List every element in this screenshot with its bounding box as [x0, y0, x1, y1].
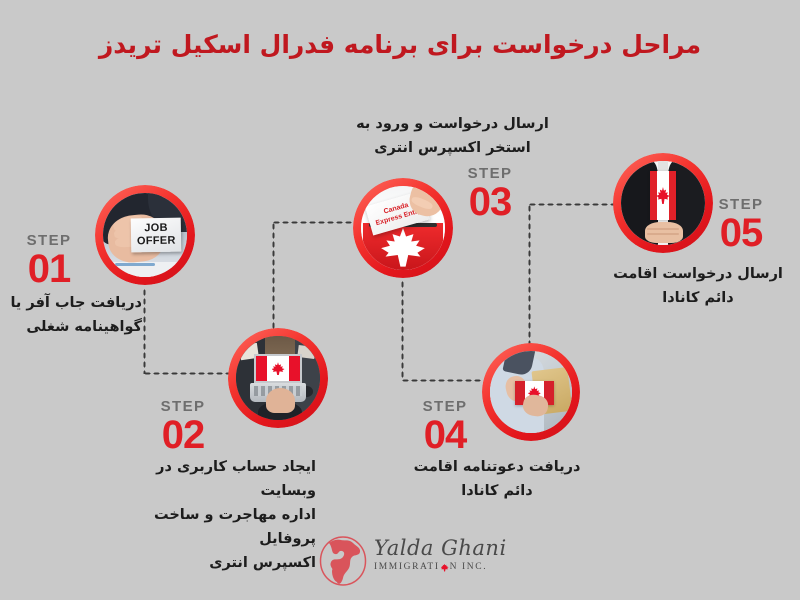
- laptop-screen: [254, 354, 301, 383]
- connector-1-2-horizontal: [143, 372, 229, 375]
- step-caption-4-line2: دائم کانادا: [404, 479, 590, 503]
- step-caption-5: ارسال درخواست اقامت دائم کانادا: [600, 262, 796, 310]
- maple-leaf-icon: [272, 362, 285, 375]
- step-number-1: STEP 01: [8, 232, 90, 289]
- step-caption-3-line1: ارسال درخواست و ورود به: [345, 112, 560, 136]
- step-image-4: [490, 351, 572, 433]
- step-circle-4[interactable]: [482, 343, 580, 441]
- logo-text-block: Yalda Ghani IMMIGRATI N INC.: [374, 536, 508, 574]
- step-caption-5-line1: ارسال درخواست اقامت: [600, 262, 796, 286]
- step-digit-3: 03: [449, 182, 531, 222]
- step-circle-2[interactable]: [228, 328, 328, 428]
- step-caption-2-line2: اداره مهاجرت و ساخت پروفایل: [100, 503, 316, 551]
- job-offer-card: JOB OFFER: [130, 218, 181, 252]
- maple-leaf-icon: [441, 564, 449, 572]
- step-number-2: STEP 02: [142, 398, 224, 455]
- step-caption-1: دریافت جاب آفر یا گواهینامه شغلی: [0, 291, 150, 339]
- connector-4-5-horizontal: [528, 203, 614, 206]
- job-offer-text-line1: JOB: [144, 222, 168, 235]
- step-digit-4: 04: [404, 415, 486, 455]
- page-title: مراحل درخواست برای برنامه فدرال اسکیل تر…: [0, 28, 800, 62]
- company-logo: Yalda Ghani IMMIGRATI N INC.: [318, 532, 508, 590]
- step-caption-3-line2: استخر اکسپرس انتری: [345, 136, 560, 160]
- step-number-3: STEP 03: [449, 165, 531, 222]
- step-circle-3[interactable]: Canada Express Entry: [353, 178, 453, 278]
- step-caption-2-line3: اکسپرس انتری: [100, 551, 316, 575]
- step-caption-2: ایجاد حساب کاربری در وبسایت اداره مهاجرت…: [100, 455, 316, 575]
- step-caption-4: دریافت دعوتنامه اقامت دائم کانادا: [404, 455, 590, 503]
- step-digit-5: 05: [700, 213, 782, 253]
- logo-tagline-after: N INC.: [450, 561, 488, 574]
- step-caption-1-line2: گواهینامه شغلی: [0, 315, 142, 339]
- step-caption-4-line1: دریافت دعوتنامه اقامت: [404, 455, 590, 479]
- step-caption-1-line1: دریافت جاب آفر یا: [0, 291, 142, 315]
- infographic-canvas: مراحل درخواست برای برنامه فدرال اسکیل تر…: [0, 0, 800, 600]
- step-number-5: STEP 05: [700, 196, 782, 253]
- logo-company-name: Yalda Ghani: [374, 536, 508, 561]
- job-offer-text-line2: OFFER: [137, 235, 176, 249]
- logo-tagline: IMMIGRATI N INC.: [374, 561, 508, 574]
- globe-icon: [318, 536, 368, 586]
- step-image-1: JOB OFFER: [103, 193, 187, 277]
- step-digit-1: 01: [8, 249, 90, 289]
- maple-leaf-icon: [657, 187, 670, 204]
- step-image-5: [621, 161, 705, 245]
- connector-3-4-horizontal: [401, 379, 481, 382]
- connector-2-3-horizontal: [272, 221, 354, 224]
- step-image-3: Canada Express Entry: [361, 186, 445, 270]
- connector-4-5-vertical: [528, 204, 531, 344]
- step-circle-1[interactable]: JOB OFFER: [95, 185, 195, 285]
- step-number-4: STEP 04: [404, 398, 486, 455]
- step-caption-5-line2: دائم کانادا: [600, 286, 796, 310]
- step-digit-2: 02: [142, 415, 224, 455]
- logo-tagline-before: IMMIGRATI: [374, 561, 440, 574]
- step-caption-3: ارسال درخواست و ورود به استخر اکسپرس انت…: [345, 112, 560, 160]
- step-image-2: [236, 336, 320, 420]
- canadian-flag-icon: [650, 171, 677, 220]
- step-caption-2-line1: ایجاد حساب کاربری در وبسایت: [100, 455, 316, 503]
- connector-3-4-vertical: [401, 280, 404, 380]
- step-circle-5[interactable]: [613, 153, 713, 253]
